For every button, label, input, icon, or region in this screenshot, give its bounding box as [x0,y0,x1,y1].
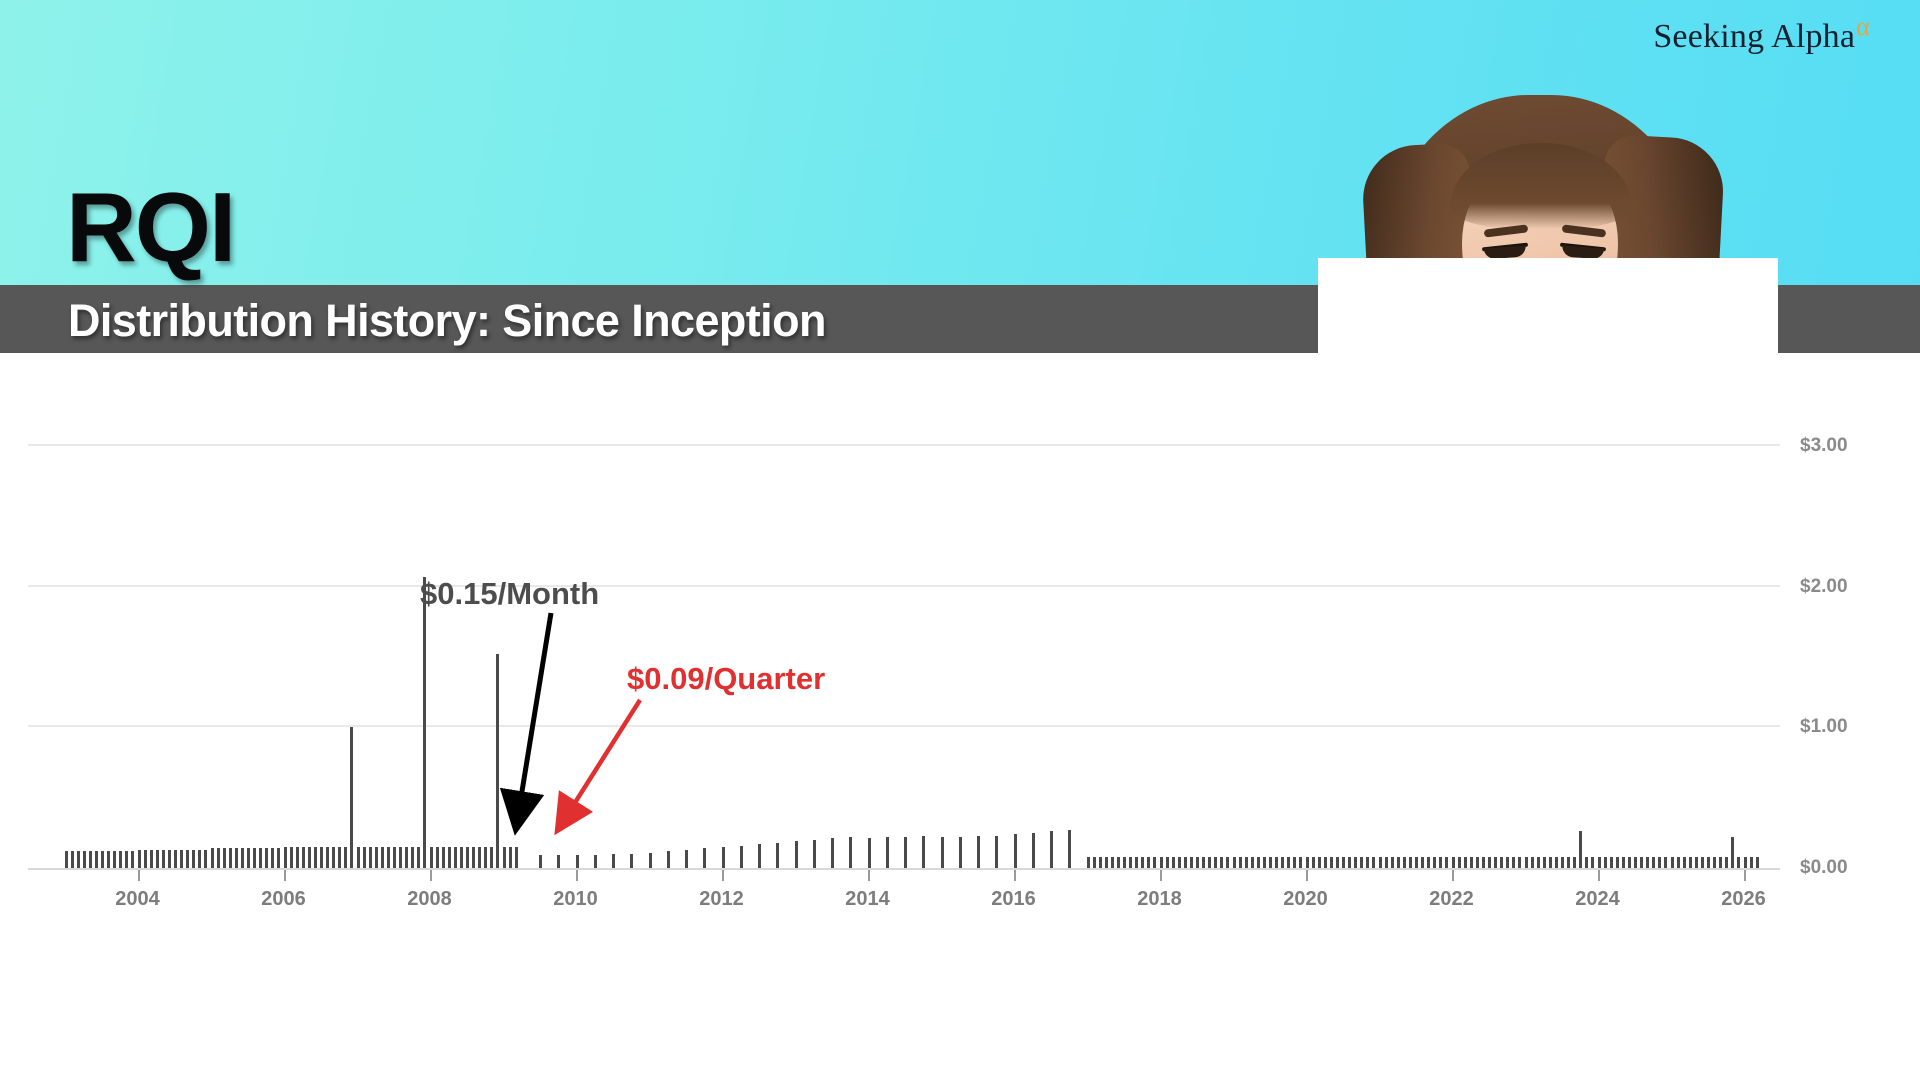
chart-bar [1744,857,1747,868]
chart-bar [649,853,652,868]
chart-bar [417,847,420,868]
chart-bar [1683,857,1686,868]
chart-bar [1312,857,1315,868]
chart-bar [1707,857,1710,868]
chart-bar [144,850,147,868]
chart-bar [539,855,542,868]
x-axis-label: 2020 [1283,888,1328,911]
chart-bar [1616,857,1619,868]
chart-bar [922,836,925,868]
chart-bar [113,851,116,868]
chart-bar [1634,857,1637,868]
chart-bar [1725,857,1728,868]
chart-bar [1330,857,1333,868]
chart-bar [1695,857,1698,868]
x-axis-label: 2010 [553,888,598,911]
chart-bar [302,847,305,868]
distribution-chart: $0.00$1.00$2.00$3.0020042006200820102012… [0,400,1920,960]
chart-bar [387,847,390,868]
chart-bar [1391,857,1394,868]
x-axis-tick [1160,870,1162,881]
chart-bar [405,847,408,868]
chart-bar [1719,857,1722,868]
chart-bar [1494,857,1497,868]
chart-bar [478,847,481,868]
chart-bar [849,837,852,868]
chart-bar [192,850,195,868]
chart-bar [1470,857,1473,868]
chart-bar [1068,830,1071,868]
chart-bar [338,847,341,868]
x-axis-label: 2024 [1575,888,1620,911]
chart-bar [1239,857,1242,868]
chart-bar [1372,857,1375,868]
chart-bar [1306,857,1309,868]
chart-bar [1050,831,1053,868]
annotation-quarterly: $0.09/Quarter [627,663,825,694]
chart-bar [369,847,372,868]
chart-bar [1646,857,1649,868]
y-axis-label: $1.00 [1800,716,1848,738]
chart-bar [1196,857,1199,868]
chart-bar [977,836,980,868]
chart-bar [241,848,244,868]
chart-bar [868,838,871,868]
chart-bar [1750,857,1753,868]
chart-bar [1677,857,1680,868]
y-axis-label: $3.00 [1800,435,1848,457]
chart-bar [454,847,457,868]
chart-bar [320,847,323,868]
chart-bar [1445,857,1448,868]
x-axis-tick [1452,870,1454,881]
chart-bar [1543,857,1546,868]
chart-bar [1452,857,1455,868]
chart-bar [1147,857,1150,868]
chart-bar [89,851,92,868]
x-axis-tick [868,870,870,881]
chart-bar [1099,857,1102,868]
chart-bar [357,847,360,868]
gridline [28,585,1780,587]
chart-bar [1166,857,1169,868]
chart-bar [1245,857,1248,868]
gridline [28,725,1780,727]
chart-bar [630,854,633,868]
chart-bar [703,848,706,868]
brand-name: Seeking Alpha [1653,18,1855,55]
chart-bar [1293,857,1296,868]
chart-bar [1604,857,1607,868]
chart-bar [1573,857,1576,868]
chart-bar [204,850,207,868]
chart-bar [1275,857,1278,868]
chart-bar [1032,833,1035,868]
chart-bar [515,847,518,868]
chart-bar [904,837,907,868]
chart-bar [308,847,311,868]
chart-bar [217,848,220,868]
chart-bar [460,847,463,868]
chart-bar [1087,857,1090,868]
chart-bar [484,847,487,868]
chart-bar [1220,857,1223,868]
chart-bar [1208,857,1211,868]
x-axis-label: 2012 [699,888,744,911]
chart-bar [1561,857,1564,868]
chart-bar [101,851,104,868]
chart-bar [198,850,201,868]
chart-bar [332,847,335,868]
chart-bar [1263,857,1266,868]
chart-bar [1281,857,1284,868]
header-banner: Seeking Alphaα RQI Distribution History:… [0,0,1920,384]
chart-bar [1324,857,1327,868]
chart-bar [1598,857,1601,868]
chart-bar [1701,857,1704,868]
x-axis-tick [1598,870,1600,881]
chart-bar [685,850,688,868]
chart-bar [277,848,280,868]
chart-bar [350,727,353,868]
chart-bar [430,847,433,868]
chart-bar [1427,857,1430,868]
y-axis-label: $0.00 [1800,857,1848,879]
chart-bar [1756,857,1759,868]
chart-bar [576,855,579,868]
x-axis-tick [138,870,140,881]
chart-bar [1482,857,1485,868]
chart-bar [1458,857,1461,868]
header-white-strip [0,353,1920,384]
chart-bar [1512,857,1515,868]
chart-bar [1105,857,1108,868]
chart-bar [296,847,299,868]
chart-bar [1579,831,1582,868]
chart-bar [959,837,962,868]
chart-bar [472,847,475,868]
chart-bar [667,851,670,868]
chart-bar [1129,857,1132,868]
chart-bar [1342,857,1345,868]
chart-bar [223,848,226,868]
chart-bar [253,848,256,868]
chart-bar [1153,857,1156,868]
chart-bar [1488,857,1491,868]
chart-bar [381,847,384,868]
chart-bar [1318,857,1321,868]
x-axis-tick [1306,870,1308,881]
chart-bar [1439,857,1442,868]
chart-bar [1257,857,1260,868]
chart-bar [1549,857,1552,868]
ticker-symbol: RQI [66,178,234,276]
x-axis-label: 2006 [261,888,306,911]
chart-bar [265,848,268,868]
chart-bar [1671,857,1674,868]
chart-bar [314,847,317,868]
chart-bar [77,851,80,868]
x-axis-label: 2008 [407,888,452,911]
chart-bar [1610,857,1613,868]
chart-bar [1555,857,1558,868]
chart-bar [131,851,134,868]
chart-bar [156,850,159,868]
chart-bar [1117,857,1120,868]
alpha-icon: α [1856,12,1870,41]
chart-bar [1269,857,1272,868]
chart-bar [740,846,743,869]
chart-bar [1299,857,1302,868]
chart-bar [1500,857,1503,868]
plot-area [28,418,1780,868]
chart-bar [423,577,426,868]
x-axis-label: 2004 [115,888,160,911]
chart-bar [436,847,439,868]
chart-bar [1172,857,1175,868]
x-axis-tick [576,870,578,881]
chart-bar [271,848,274,868]
chart-bar [1415,857,1418,868]
chart-bar [831,838,834,868]
x-axis-tick [430,870,432,881]
chart-bar [1251,857,1254,868]
chart-bar [941,837,944,868]
chart-bar [1141,857,1144,868]
chart-bar [886,837,889,868]
chart-bar [162,850,165,868]
chart-bar [1622,857,1625,868]
chart-bar [1214,857,1217,868]
chart-bar [363,847,366,868]
chart-bar [1531,857,1534,868]
chart-bar [174,850,177,868]
chart-bar [180,850,183,868]
chart-bar [65,851,68,868]
chart-bar [722,847,725,868]
chart-bar [466,847,469,868]
chart-bar [1591,857,1594,868]
chart-bar [290,847,293,868]
chart-bar [1354,857,1357,868]
chart-bar [1160,857,1163,868]
chart-bar [71,851,74,868]
x-axis-tick [1014,870,1016,881]
chart-bar [813,840,816,868]
x-axis-label: 2022 [1429,888,1474,911]
chart-bar [83,851,86,868]
chart-bar [612,854,615,868]
annotation-monthly: $0.15/Month [420,578,599,609]
chart-bar [247,848,250,868]
x-axis-tick [284,870,286,881]
x-axis-label: 2016 [991,888,1036,911]
chart-bar [107,851,110,868]
chart-bar [1348,857,1351,868]
chart-bar [1506,857,1509,868]
chart-bar [1567,857,1570,868]
chart-bar [138,850,141,868]
chart-bar [776,843,779,868]
chart-bar [1123,857,1126,868]
chart-bar [150,850,153,868]
chart-bar [1640,857,1643,868]
chart-bar [393,847,396,868]
chart-bar [1202,857,1205,868]
chart-bar [1409,857,1412,868]
chart-bar [594,855,597,868]
chart-bar [1403,857,1406,868]
chart-bar [1731,837,1734,868]
chart-bar [1737,857,1740,868]
chart-bar [1360,857,1363,868]
x-axis-label: 2014 [845,888,890,911]
chart-bar [1713,857,1716,868]
chart-bar [95,851,98,868]
chart-bar [1664,857,1667,868]
chart-bar [795,841,798,868]
x-axis-tick [722,870,724,881]
chart-bar [557,855,560,868]
chart-bar [1585,857,1588,868]
gridline [28,444,1780,446]
chart-bar [490,847,493,868]
chart-bar [1652,857,1655,868]
chart-bar [1379,857,1382,868]
chart-bar [211,848,214,868]
chart-bar [448,847,451,868]
chart-bar [229,848,232,868]
chart-bar [758,844,761,868]
chart-bar [235,848,238,868]
chart-bar [259,848,262,868]
chart-bar [1397,857,1400,868]
chart-bar [1014,834,1017,868]
chart-bar [1184,857,1187,868]
chart-bar [1366,857,1369,868]
chart-bar [168,850,171,868]
chart-bar [1518,857,1521,868]
x-axis-baseline [28,868,1780,870]
chart-bar [1135,857,1138,868]
chart-bar [1190,857,1193,868]
chart-bar [344,847,347,868]
chart-bar [1336,857,1339,868]
chart-bar [1226,857,1229,868]
chart-bar [125,851,128,868]
chart-bar [284,847,287,868]
chart-bar [496,654,499,868]
chart-bar [1689,857,1692,868]
chart-bar [119,851,122,868]
chart-bar [399,847,402,868]
chart-bar [1287,857,1290,868]
chart-bar [1233,857,1236,868]
chart-bar [1537,857,1540,868]
chart-bar [1658,857,1661,868]
chart-bar [1385,857,1388,868]
chart-bar [1178,857,1181,868]
chart-bar [1464,857,1467,868]
x-axis-tick [1744,870,1746,881]
chart-bar [1421,857,1424,868]
chart-bar [326,847,329,868]
chart-bar [375,847,378,868]
chart-bar [186,850,189,868]
x-axis-label: 2026 [1721,888,1766,911]
chart-bar [503,847,506,868]
chart-bar [1111,857,1114,868]
chart-bar [1525,857,1528,868]
page-subtitle: Distribution History: Since Inception [68,298,826,343]
chart-bar [1093,857,1096,868]
chart-bar [442,847,445,868]
x-axis-label: 2018 [1137,888,1182,911]
chart-bar [1433,857,1436,868]
chart-bar [509,847,512,868]
chart-bar [995,836,998,868]
y-axis-label: $2.00 [1800,576,1848,598]
chart-bar [1628,857,1631,868]
chart-bar [1476,857,1479,868]
chart-bar [411,847,414,868]
seeking-alpha-logo: Seeking Alphaα [1653,18,1870,56]
